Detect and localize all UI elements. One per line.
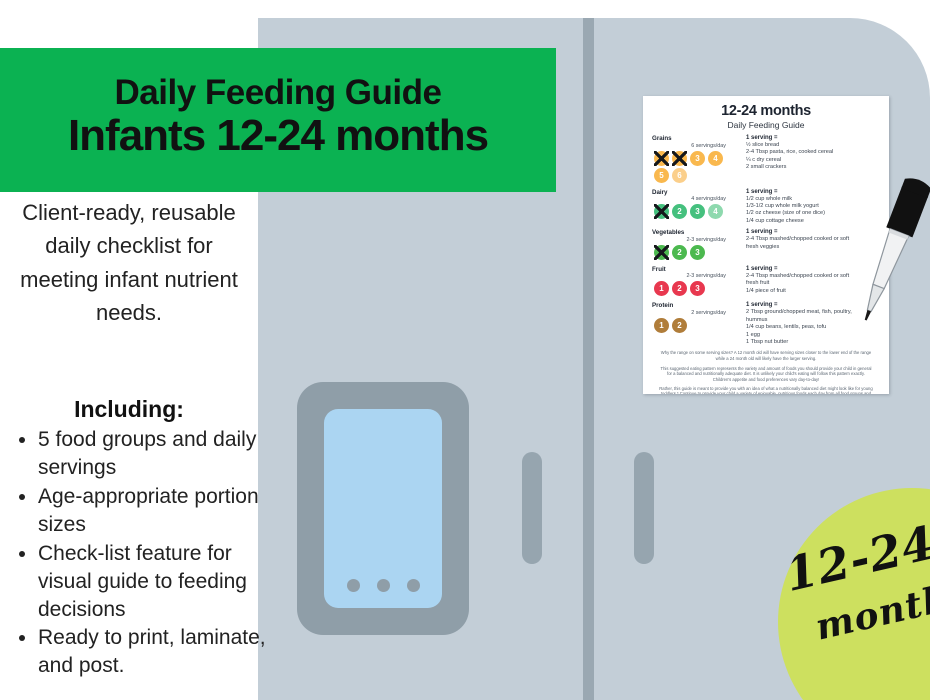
promo-bullet: Age-appropriate portion sizes xyxy=(38,483,282,539)
food-group-name: Fruit xyxy=(652,266,744,273)
food-group-servings: 6 servings/day xyxy=(652,143,744,149)
serving-checkbox[interactable]: 5 xyxy=(654,168,669,183)
tablet-device xyxy=(297,382,469,635)
food-group-name: Dairy xyxy=(652,189,744,196)
banner-line1: Daily Feeding Guide xyxy=(115,75,442,112)
serving-checkbox-checked[interactable]: 1 xyxy=(654,245,669,260)
banner-line2: Infants 12-24 months xyxy=(68,112,488,160)
serving-checkbox-group: 123456 xyxy=(652,151,736,185)
serving-checkbox[interactable]: 1 xyxy=(654,281,669,296)
serving-checkbox-checked[interactable]: 1 xyxy=(654,151,669,166)
serving-checkbox[interactable]: 2 xyxy=(672,318,687,333)
marker-pen xyxy=(836,166,930,334)
promo-bullet: 5 food groups and daily servings xyxy=(38,426,282,482)
food-group-left: Grains6 servings/day123456 xyxy=(652,135,744,185)
serving-line: ¼ c dry cereal xyxy=(746,157,880,164)
serving-equals-label: 1 serving = xyxy=(746,135,880,141)
sheet-title: 12-24 months xyxy=(652,103,880,119)
fineprint-paragraph: Why the range on some serving sizes? A 1… xyxy=(652,350,880,361)
serving-line: ½ slice bread xyxy=(746,142,880,149)
food-group-name: Grains xyxy=(652,135,744,142)
food-group-left: Fruit2-3 servings/day123 xyxy=(652,266,744,299)
serving-line: 1 Tbsp nut butter xyxy=(746,339,880,346)
serving-line: 2-4 Tbsp pasta, rice, cooked cereal xyxy=(746,149,880,156)
fineprint-paragraph: This suggested eating pattern represents… xyxy=(652,366,880,383)
tablet-dot xyxy=(407,579,420,592)
promo-banner: Daily Feeding Guide Infants 12-24 months xyxy=(0,48,556,192)
food-group-name: Protein xyxy=(652,302,744,309)
promo-intro-text: Client-ready, reusable daily checklist f… xyxy=(8,196,250,330)
sheet-fineprint: Why the range on some serving sizes? A 1… xyxy=(652,350,880,394)
serving-checkbox-group: 123 xyxy=(652,245,736,262)
serving-checkbox[interactable]: 4 xyxy=(708,151,723,166)
serving-checkbox[interactable]: 3 xyxy=(690,204,705,219)
promo-bullet: Check-list feature for visual guide to f… xyxy=(38,540,282,624)
sheet-subtitle: Daily Feeding Guide xyxy=(652,120,880,130)
serving-checkbox-checked[interactable]: 1 xyxy=(654,204,669,219)
serving-checkbox[interactable]: 2 xyxy=(672,281,687,296)
food-group-left: Protein2 servings/day12 xyxy=(652,302,744,346)
serving-checkbox[interactable]: 3 xyxy=(690,245,705,260)
promo-bullet: Ready to print, laminate, and post. xyxy=(38,624,282,680)
serving-checkbox[interactable]: 3 xyxy=(690,151,705,166)
serving-checkbox-checked[interactable]: 2 xyxy=(672,151,687,166)
refrigerator-handle-right xyxy=(634,452,654,564)
food-group-left: Vegetables2-3 servings/day123 xyxy=(652,229,744,262)
food-group-name: Vegetables xyxy=(652,229,744,236)
promo-including-label: Including: xyxy=(8,396,250,423)
tablet-dot xyxy=(347,579,360,592)
food-group-servings: 2-3 servings/day xyxy=(652,237,744,243)
tablet-screen xyxy=(324,409,442,608)
serving-checkbox[interactable]: 2 xyxy=(672,204,687,219)
tablet-dot xyxy=(377,579,390,592)
serving-checkbox[interactable]: 2 xyxy=(672,245,687,260)
serving-checkbox-group: 123 xyxy=(652,281,736,298)
serving-checkbox-group: 12 xyxy=(652,318,736,335)
food-group-servings: 2 servings/day xyxy=(652,310,744,316)
food-group-servings: 4 servings/day xyxy=(652,196,744,202)
food-group-servings: 2-3 servings/day xyxy=(652,273,744,279)
tablet-dots xyxy=(324,579,442,592)
refrigerator-handle-left xyxy=(522,452,542,564)
refrigerator-door-divider xyxy=(583,18,594,700)
serving-checkbox-group: 1234 xyxy=(652,204,736,221)
serving-checkbox[interactable]: 3 xyxy=(690,281,705,296)
food-group-left: Dairy4 servings/day1234 xyxy=(652,189,744,226)
serving-checkbox[interactable]: 6 xyxy=(672,168,687,183)
promo-bullet-list: 5 food groups and daily servingsAge-appr… xyxy=(14,426,282,681)
serving-checkbox[interactable]: 1 xyxy=(654,318,669,333)
serving-checkbox[interactable]: 4 xyxy=(708,204,723,219)
fineprint-paragraph: Rather, this guide is meant to provide y… xyxy=(652,386,880,394)
promo-graphic: 12-24 months 12-24 months Daily Feeding … xyxy=(0,0,930,700)
